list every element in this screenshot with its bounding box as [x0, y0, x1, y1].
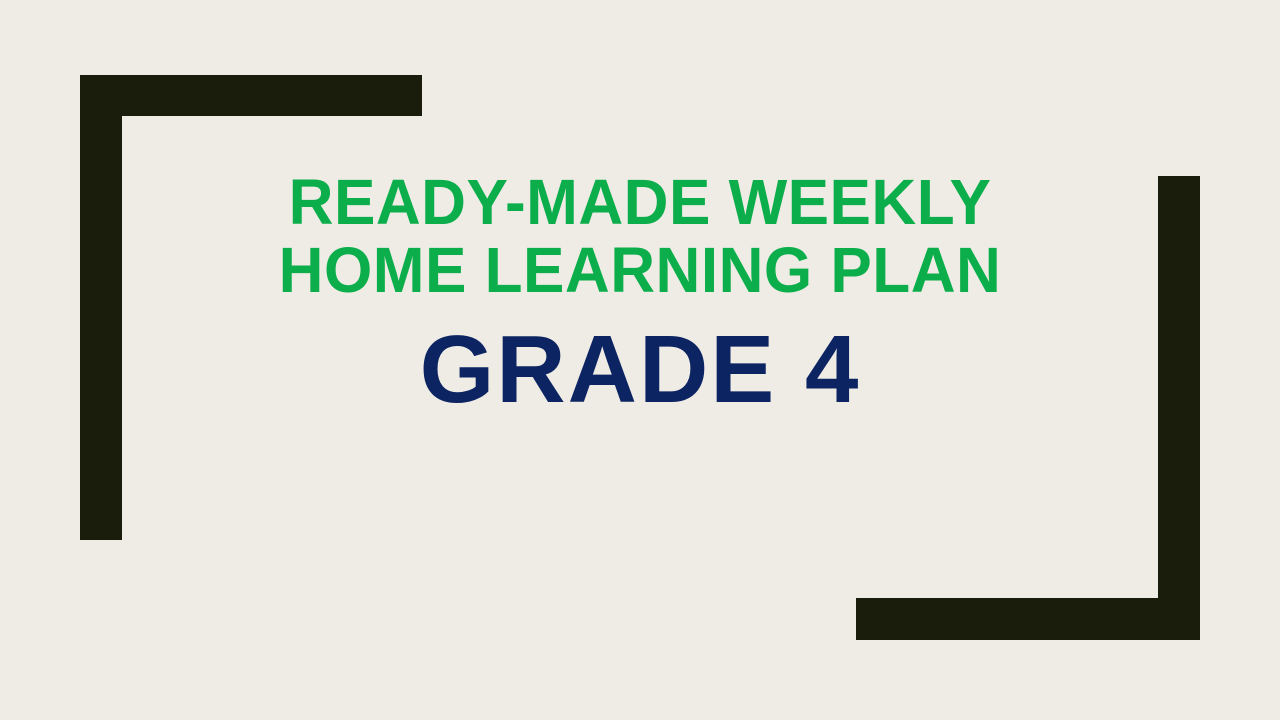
presentation-slide: READY-MADE WEEKLY HOME LEARNING PLAN GRA…	[0, 0, 1280, 720]
slide-title-line-1: READY-MADE WEEKLY	[242, 168, 1037, 236]
slide-subtitle: GRADE 4	[230, 320, 1050, 420]
top-left-bracket-horizontal-bar	[80, 75, 422, 116]
slide-title-line-2: HOME LEARNING PLAN	[242, 236, 1037, 304]
bottom-right-bracket-horizontal-bar	[856, 598, 1200, 640]
slide-title: READY-MADE WEEKLY HOME LEARNING PLAN	[242, 168, 1037, 304]
top-left-bracket-vertical-bar	[80, 75, 122, 540]
bottom-right-bracket-vertical-bar	[1158, 176, 1200, 640]
